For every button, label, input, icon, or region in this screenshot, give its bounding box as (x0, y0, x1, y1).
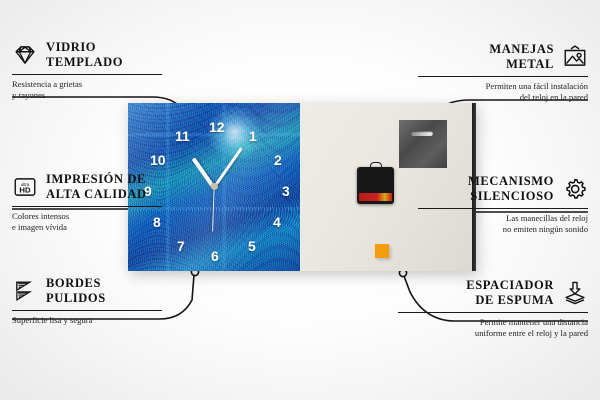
feature-divider (12, 74, 162, 75)
metal-hanger-slot (411, 131, 433, 136)
gear-icon (562, 176, 588, 202)
feature-divider (12, 206, 162, 207)
foam-spacer-square (375, 244, 389, 258)
feature-title: ESPACIADOR DE ESPUMA (466, 278, 554, 308)
feature-title: IMPRESIÓN DE ALTA CALIDAD (46, 172, 147, 202)
feature-bordes-pulidos: BORDES PULIDOS Superficie lisa y segura (12, 276, 162, 326)
feature-description: Colores intensos e imagen vívida (12, 211, 162, 234)
feature-manejas-metal: MANEJAS METAL Permiten una fácil instala… (418, 42, 588, 104)
clock-numeral-3: 3 (282, 184, 290, 198)
feature-title: MANEJAS METAL (489, 42, 554, 72)
clock-numeral-12: 12 (209, 120, 225, 134)
polished-edges-icon (12, 278, 38, 304)
clock-numeral-2: 2 (274, 153, 282, 167)
diamond-icon (12, 42, 38, 68)
feature-impresion-alta-calidad: ultra HD IMPRESIÓN DE ALTA CALIDAD Color… (12, 172, 162, 234)
feature-description: Las manecillas del reloj no emiten ningú… (418, 213, 588, 236)
feature-divider (12, 310, 162, 311)
feature-description: Resistencia a grietas y rayones (12, 79, 162, 102)
feature-title: BORDES PULIDOS (46, 276, 106, 306)
mechanism-label (359, 193, 392, 201)
product-infographic: 12 1 2 3 4 5 6 7 8 9 10 11 (0, 0, 600, 400)
feature-divider (418, 76, 588, 77)
ultra-hd-badge-icon: ultra HD (12, 174, 38, 200)
clock-numeral-5: 5 (248, 239, 256, 253)
clock-numeral-10: 10 (150, 153, 166, 167)
clock-numeral-4: 4 (273, 215, 281, 229)
clock-numeral-11: 11 (175, 129, 190, 143)
feature-title: MECANISMO SILENCIOSO (468, 174, 554, 204)
foam-spacer-icon (562, 280, 588, 306)
feature-divider (398, 312, 588, 313)
metal-hanger-plate (399, 120, 447, 168)
feature-title: VIDRIO TEMPLADO (46, 40, 123, 70)
framed-picture-icon (562, 44, 588, 70)
svg-text:HD: HD (19, 185, 31, 194)
feature-description: Superficie lisa y segura (12, 315, 162, 327)
feature-description: Permiten una fácil instalación del reloj… (418, 81, 588, 104)
feature-description: Permite mantener una distancia uniforme … (398, 317, 588, 340)
feature-vidrio-templado: VIDRIO TEMPLADO Resistencia a grietas y … (12, 40, 162, 102)
feature-divider (418, 208, 588, 209)
feature-mecanismo-silencioso: MECANISMO SILENCIOSO Las manecillas del … (418, 174, 588, 236)
clock-hands-pivot (211, 183, 218, 190)
clock-numeral-7: 7 (177, 239, 185, 253)
clock-numeral-1: 1 (249, 129, 257, 143)
feature-espaciador-espuma: ESPACIADOR DE ESPUMA Permite mantener un… (398, 278, 588, 340)
clock-numeral-6: 6 (211, 249, 219, 263)
